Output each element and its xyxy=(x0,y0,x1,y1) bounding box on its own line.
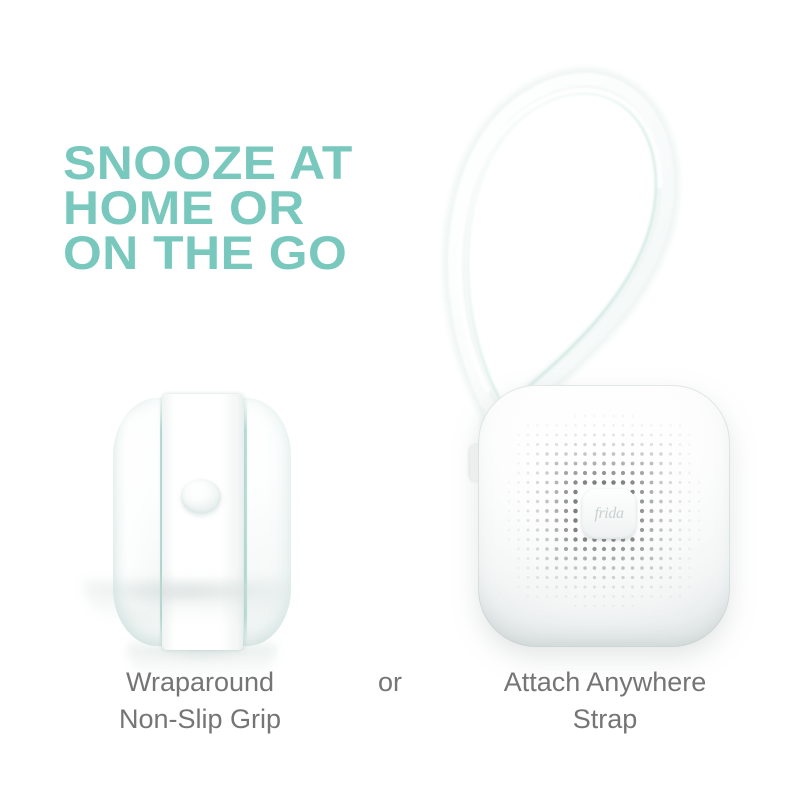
product-feature-graphic: SNOOZE AT HOME OR ON THE GO xyxy=(0,0,800,800)
brand-logo: frida xyxy=(594,505,623,523)
right-product-reflection xyxy=(84,582,288,622)
grip-band-bump xyxy=(181,479,221,514)
caption-connector: or xyxy=(350,664,430,701)
caption-attach-anywhere-strap: Attach Anywhere Strap xyxy=(450,664,760,738)
caption-right-line-1: Attach Anywhere xyxy=(450,664,760,701)
caption-wraparound-grip: Wraparound Non-Slip Grip xyxy=(60,664,340,738)
caption-left-line-2: Non-Slip Grip xyxy=(60,701,340,738)
caption-right-line-2: Strap xyxy=(450,701,760,738)
product-image-attach-anywhere-strap: frida xyxy=(420,60,760,660)
sound-machine-device: frida xyxy=(478,385,730,647)
power-button[interactable]: frida xyxy=(582,489,636,539)
caption-left-line-1: Wraparound xyxy=(60,664,340,701)
